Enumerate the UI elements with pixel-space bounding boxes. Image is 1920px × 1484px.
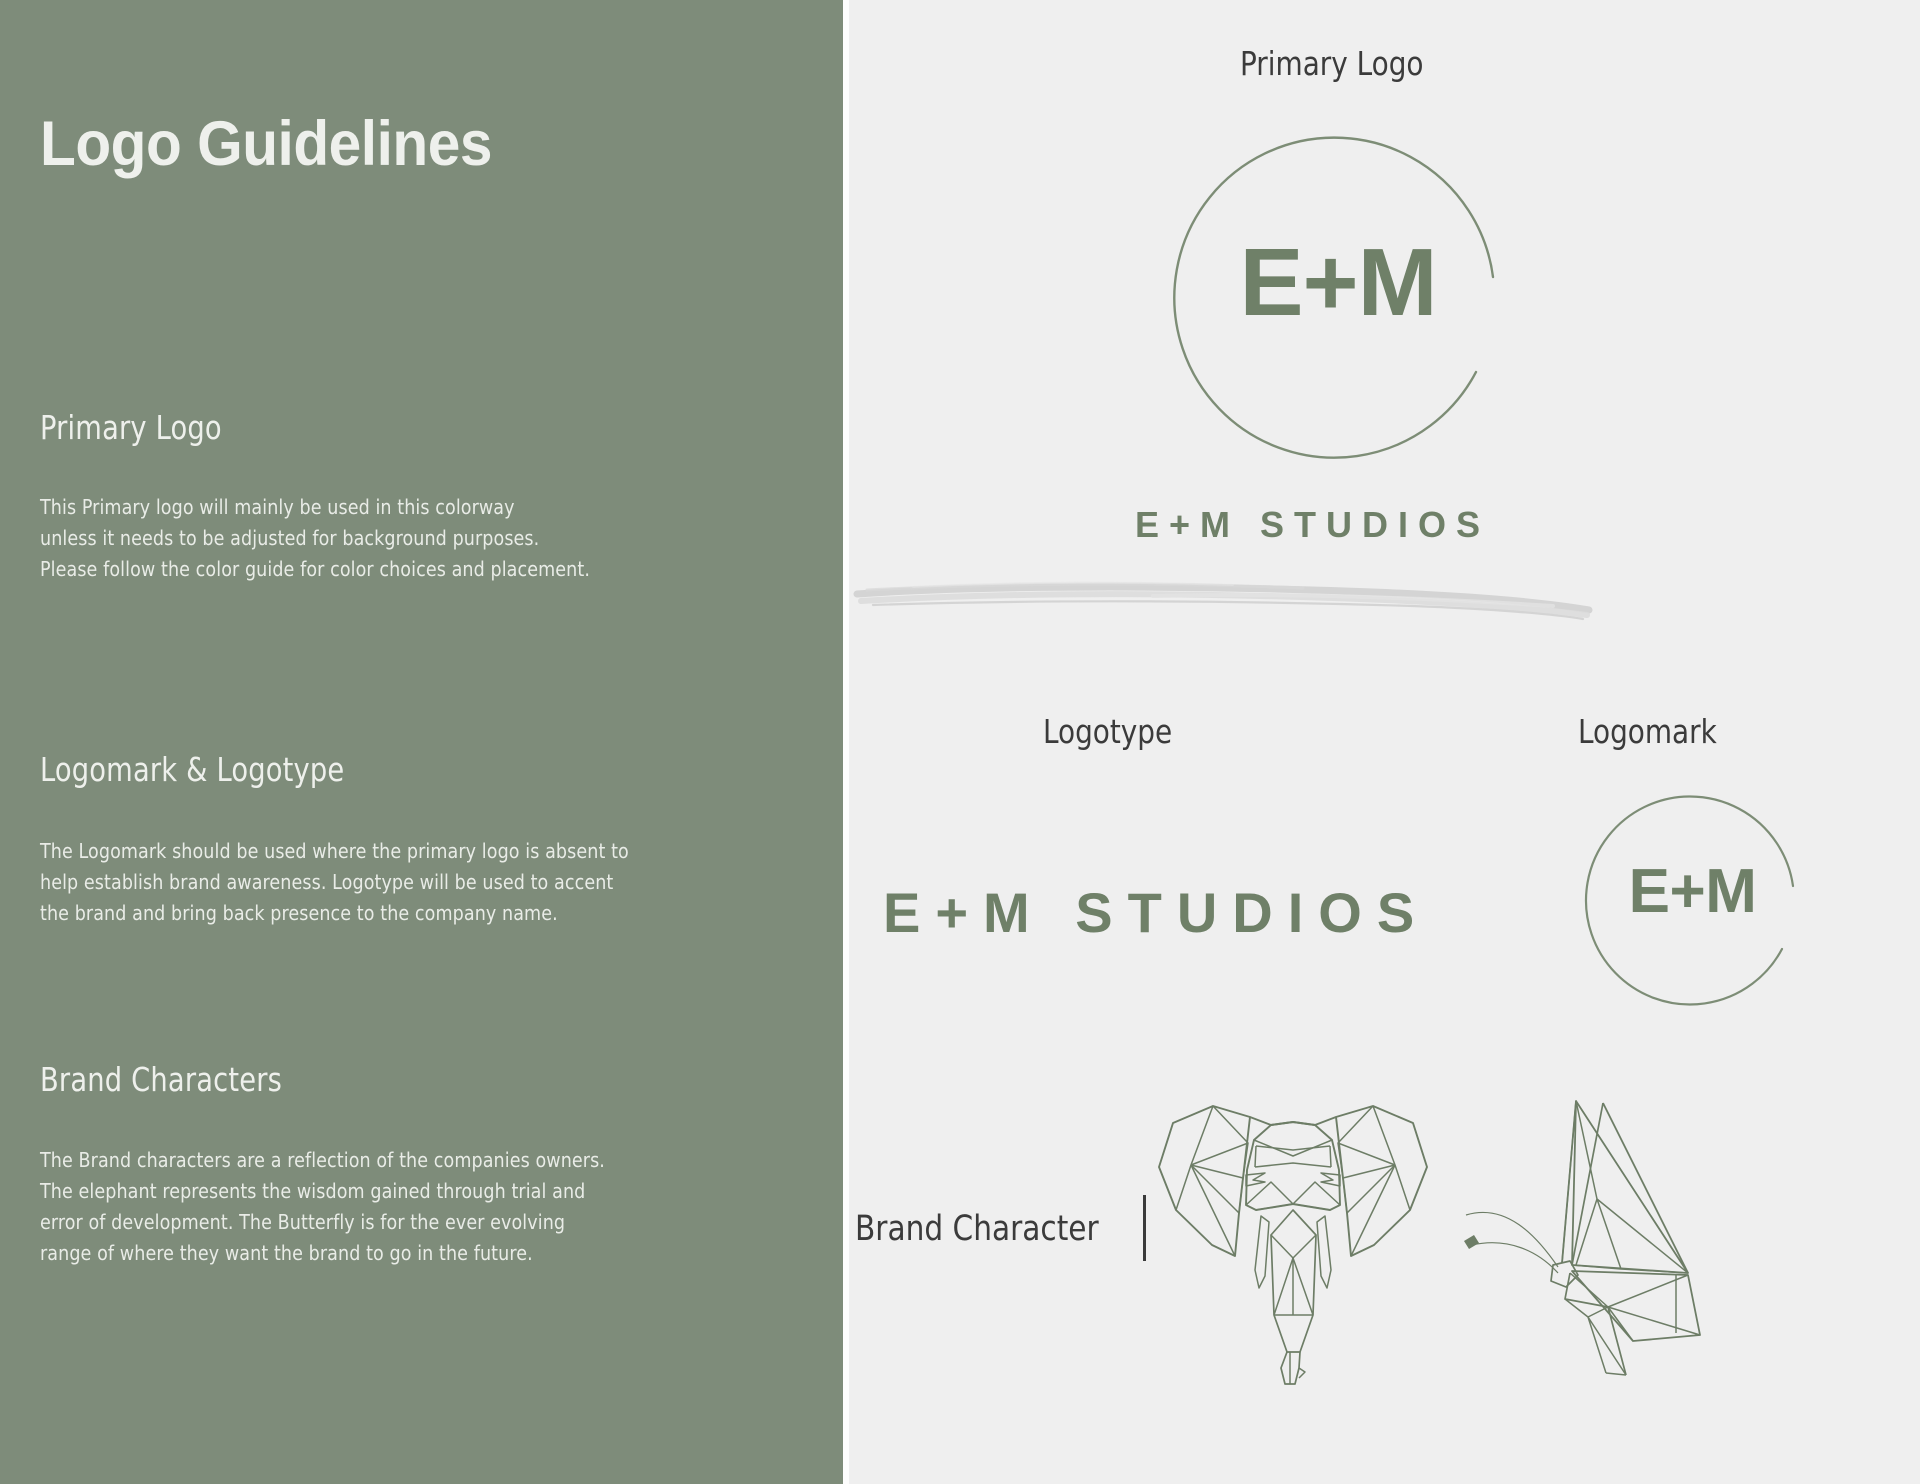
label-brand-character: Brand Character xyxy=(855,1209,1099,1249)
primary-logomark-monogram: E+M xyxy=(1173,228,1503,338)
primary-logomark: E+M xyxy=(1173,137,1503,467)
page-title: Logo Guidelines xyxy=(40,108,492,180)
butterfly-illustration xyxy=(1458,1085,1758,1375)
left-sage-panel: Logo Guidelines Primary Logo This Primar… xyxy=(0,0,843,1484)
secondary-logomark: E+M xyxy=(1585,796,1800,1011)
section-heading-logomark-logotype: Logomark & Logotype xyxy=(40,750,739,789)
primary-wordmark: E+M STUDIOS xyxy=(1135,504,1490,546)
section-heading-primary-logo: Primary Logo xyxy=(40,408,739,447)
section-logomark-logotype: Logomark & Logotype The Logomark should … xyxy=(40,750,800,929)
section-heading-brand-characters: Brand Characters xyxy=(40,1060,739,1099)
brand-guidelines-page: Logo Guidelines Primary Logo This Primar… xyxy=(0,0,1920,1484)
brush-stroke-divider xyxy=(853,570,1593,626)
secondary-logomark-monogram: E+M xyxy=(1585,856,1800,927)
right-showcase-panel: Primary Logo E+M E+M STUDIOS L xyxy=(843,0,1920,1484)
logotype-wordmark: E+M STUDIOS xyxy=(883,880,1429,945)
elephant-illustration xyxy=(1143,1070,1443,1390)
label-primary-logo: Primary Logo xyxy=(1240,44,1423,83)
label-logomark: Logomark xyxy=(1578,712,1717,751)
panel-divider xyxy=(843,0,849,1484)
label-logotype: Logotype xyxy=(1043,712,1172,751)
section-body-brand-characters: The Brand characters are a reflection of… xyxy=(40,1145,762,1269)
section-primary-logo: Primary Logo This Primary logo will main… xyxy=(40,408,800,585)
section-brand-characters: Brand Characters The Brand characters ar… xyxy=(40,1060,800,1269)
section-body-primary-logo: This Primary logo will mainly be used in… xyxy=(40,492,762,585)
section-body-logomark-logotype: The Logomark should be used where the pr… xyxy=(40,836,762,929)
